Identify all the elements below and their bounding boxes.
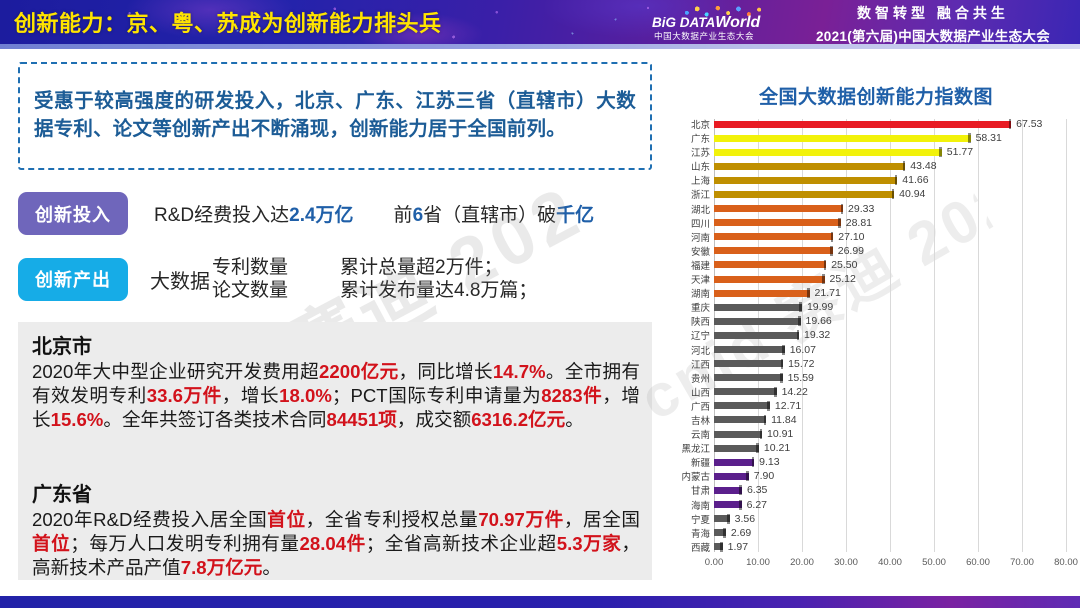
chart-bar-row: 湖北29.33 (714, 204, 1066, 214)
chart-bar (714, 163, 905, 170)
chart-bar (714, 332, 799, 339)
chart-value-label: 67.53 (1016, 118, 1042, 130)
chart-bar (714, 346, 785, 353)
chart-bar-row: 贵州15.59 (714, 373, 1066, 383)
chart-x-tick-label: 30.00 (834, 557, 858, 568)
chart-bar-row: 辽宁19.32 (714, 330, 1066, 340)
chart-value-label: 29.33 (848, 203, 874, 215)
chart-plot: 北京67.53广东58.31江苏51.77山东43.48上海41.66浙江40.… (714, 119, 1066, 552)
investment-mid-2: 省（直辖市）破 (423, 205, 556, 226)
chart-bar-row: 新疆9.13 (714, 457, 1066, 467)
investment-text: R&D经费投入达2.4万亿前6省（直辖市）破千亿 (154, 200, 594, 227)
chart-category-label: 上海 (691, 173, 710, 187)
chart-category-label: 江西 (691, 357, 710, 371)
bigdata-world-logo: BiG DATAWorld 中国大数据产业生态大会 (652, 4, 788, 42)
info-box-guangdong: 广东省 2020年R&D经费投入居全国首位，全省专利授权总量70.97万件，居全… (18, 470, 652, 580)
chart-bar-row: 吉林11.84 (714, 415, 1066, 425)
chart-bar-row: 内蒙古7.90 (714, 471, 1066, 481)
chart-category-label: 青海 (691, 526, 710, 540)
investment-value-1: 2.4万亿 (289, 205, 353, 226)
output-metric-list: 专利数量 论文数量 (212, 256, 288, 302)
logo-world-text: World (715, 14, 760, 31)
chart-bar (714, 135, 971, 142)
chart-bar-row: 上海41.66 (714, 175, 1066, 185)
output-detail: 大数据 专利数量 论文数量 累计总量超2万件； 累计发布量达4.8万篇； (150, 256, 537, 302)
chart-bar (714, 276, 825, 283)
chart-category-label: 海南 (691, 498, 710, 512)
chart-category-label: 湖南 (691, 286, 710, 300)
chart-value-label: 25.50 (831, 259, 857, 271)
chart-value-label: 25.12 (830, 273, 856, 285)
chart-bar-row: 江西15.72 (714, 359, 1066, 369)
chart-bar (714, 191, 894, 198)
chart-bar-row: 西藏1.97 (714, 542, 1066, 552)
chart-value-label: 11.84 (771, 414, 797, 426)
chart-bar-row: 浙江40.94 (714, 189, 1066, 199)
chart-bar (714, 374, 783, 381)
chart-x-tick-label: 40.00 (878, 557, 902, 568)
banner-underline-decoration (0, 44, 1080, 49)
chart-value-label: 58.31 (976, 132, 1002, 144)
chart-value-label: 16.07 (790, 344, 816, 356)
conference-name: 2021(第六届)中国大数据产业生态大会 (798, 25, 1068, 44)
chart-gridline (1066, 119, 1067, 552)
chart-bar (714, 459, 754, 466)
chart-value-label: 10.21 (764, 442, 790, 454)
chart-bar-row: 山西14.22 (714, 387, 1066, 397)
logo-subtitle: 中国大数据产业生态大会 (654, 30, 754, 42)
chart-value-label: 1.97 (728, 541, 748, 553)
chart-bar (714, 416, 766, 423)
chart-category-label: 河北 (691, 343, 710, 357)
chart-value-label: 41.66 (902, 174, 928, 186)
chart-bar (714, 233, 833, 240)
chart-category-label: 山东 (691, 159, 710, 173)
chart-area: cnid 赛迪 2021 北京67.53广东58.31江苏51.77山东43.4… (680, 119, 1072, 574)
chart-value-label: 6.35 (747, 484, 767, 496)
chart-category-label: 广东 (691, 131, 710, 145)
chart-category-label: 河南 (691, 230, 710, 244)
chart-category-label: 宁夏 (691, 512, 710, 526)
chart-category-label: 北京 (691, 117, 710, 131)
chart-category-label: 福建 (691, 258, 710, 272)
chart-bar (714, 177, 897, 184)
output-metric-patents: 专利数量 (212, 256, 288, 279)
chart-category-label: 黑龙江 (681, 441, 710, 455)
chart-bar-rows: 北京67.53广东58.31江苏51.77山东43.48上海41.66浙江40.… (714, 119, 1066, 552)
chart-bar-row: 广东58.31 (714, 133, 1066, 143)
chart-bar-row: 福建25.50 (714, 260, 1066, 270)
investment-prefix: R&D经费投入达 (154, 205, 289, 226)
chart-bar (714, 219, 841, 226)
chart-category-label: 山西 (691, 385, 710, 399)
chart-bar (714, 304, 802, 311)
chart-category-label: 湖北 (691, 202, 710, 216)
chart-title: 全国大数据创新能力指数图 (672, 52, 1080, 109)
chart-bar-row: 四川28.81 (714, 218, 1066, 228)
chart-bar-row: 甘肃6.35 (714, 485, 1066, 495)
chart-category-label: 吉林 (691, 413, 710, 427)
chart-x-tick-label: 20.00 (790, 557, 814, 568)
chart-x-tick-label: 60.00 (966, 557, 990, 568)
chart-bar-row: 宁夏3.56 (714, 514, 1066, 524)
chart-value-label: 7.90 (754, 470, 774, 482)
investment-value-3: 千亿 (556, 205, 594, 226)
chart-value-label: 14.22 (782, 386, 808, 398)
chart-bar (714, 431, 762, 438)
investment-mid-1: 前 (394, 205, 413, 226)
slide: 创新能力：京、粤、苏成为创新能力排头兵 BiG DATAWorld 中国大数据产… (0, 0, 1080, 608)
info-box-guangdong-title: 广东省 (32, 478, 640, 507)
chart-bar (714, 205, 843, 212)
chart-value-label: 19.66 (806, 315, 832, 327)
chart-x-tick-label: 10.00 (746, 557, 770, 568)
chart-value-label: 51.77 (947, 146, 973, 158)
chart-category-label: 贵州 (691, 371, 710, 385)
chart-bar (714, 487, 742, 494)
chart-category-label: 新疆 (691, 455, 710, 469)
chart-x-axis-labels: 0.0010.0020.0030.0040.0050.0060.0070.008… (714, 554, 1066, 574)
chart-value-label: 9.13 (759, 456, 779, 468)
chart-bar (714, 290, 810, 297)
logo-main-text: BiG DATAWorld (652, 15, 788, 31)
chart-value-label: 3.56 (735, 513, 755, 525)
output-bigdata-label: 大数据 (150, 265, 210, 294)
info-box-guangdong-body: 2020年R&D经费投入居全国首位，全省专利授权总量70.97万件，居全国首位；… (32, 508, 640, 581)
chart-value-label: 2.69 (731, 527, 751, 539)
chart-bar-row: 天津25.12 (714, 274, 1066, 284)
chart-category-label: 重庆 (691, 300, 710, 314)
badge-innovation-output: 创新产出 (18, 258, 128, 301)
chart-bar-row: 海南6.27 (714, 500, 1066, 510)
chart-bar (714, 261, 826, 268)
chart-bar-row: 河北16.07 (714, 345, 1066, 355)
chart-bar (714, 402, 770, 409)
chart-category-label: 浙江 (691, 187, 710, 201)
badge-innovation-investment: 创新投入 (18, 192, 128, 235)
chart-bar-row: 河南27.10 (714, 232, 1066, 242)
chart-bar (714, 515, 730, 522)
chart-category-label: 甘肃 (691, 483, 710, 497)
chart-x-tick-label: 50.00 (922, 557, 946, 568)
chart-bar (714, 318, 801, 325)
info-box-beijing-body: 2020年大中型企业研究开发费用超2200亿元，同比增长14.7%。全市拥有有效… (32, 360, 640, 433)
innovation-investment-row: 创新投入 R&D经费投入达2.4万亿前6省（直辖市）破千亿 (18, 192, 594, 235)
chart-value-label: 40.94 (899, 188, 925, 200)
chart-category-label: 安徽 (691, 244, 710, 258)
chart-bar (714, 501, 742, 508)
chart-bar-row: 广西12.71 (714, 401, 1066, 411)
logo-bigdata-text: BiG DATA (652, 15, 715, 30)
chart-bar-row: 江苏51.77 (714, 147, 1066, 157)
chart-value-label: 26.99 (838, 245, 864, 257)
chart-bar (714, 543, 723, 550)
info-box-beijing-title: 北京市 (32, 330, 640, 359)
chart-value-label: 19.32 (804, 329, 830, 341)
output-value-list: 累计总量超2万件； 累计发布量达4.8万篇； (340, 256, 537, 302)
chart-category-label: 辽宁 (691, 328, 710, 342)
chart-x-tick-label: 70.00 (1010, 557, 1034, 568)
chart-bar-row: 湖南21.71 (714, 288, 1066, 298)
summary-callout-text: 受惠于较高强度的研发投入，北京、广东、江苏三省（直辖市）大数据专利、论文等创新产… (34, 88, 636, 143)
chart-bar-row: 重庆19.99 (714, 302, 1066, 312)
chart-value-label: 28.81 (846, 217, 872, 229)
chart-value-label: 19.99 (807, 301, 833, 313)
info-box-beijing: 北京市 2020年大中型企业研究开发费用超2200亿元，同比增长14.7%。全市… (18, 322, 652, 470)
chart-bar-row: 青海2.69 (714, 528, 1066, 538)
output-value-patents: 累计总量超2万件； (340, 256, 537, 279)
chart-category-label: 云南 (691, 427, 710, 441)
chart-category-label: 内蒙古 (681, 469, 710, 483)
chart-bar (714, 121, 1011, 128)
innovation-output-row: 创新产出 大数据 专利数量 论文数量 累计总量超2万件； 累计发布量达4.8万篇… (18, 256, 537, 302)
chart-panel: 全国大数据创新能力指数图 cnid 赛迪 2021 北京67.53广东58.31… (672, 52, 1080, 592)
chart-category-label: 陕西 (691, 314, 710, 328)
output-metric-papers: 论文数量 (212, 279, 288, 302)
chart-value-label: 15.59 (788, 372, 814, 384)
chart-x-tick-label: 80.00 (1054, 557, 1078, 568)
chart-category-label: 西藏 (691, 540, 710, 554)
chart-x-tick-label: 0.00 (705, 557, 724, 568)
chart-bar (714, 360, 783, 367)
investment-value-2: 6 (413, 205, 424, 226)
chart-bar-row: 云南10.91 (714, 429, 1066, 439)
chart-category-label: 江苏 (691, 145, 710, 159)
chart-value-label: 10.91 (767, 428, 793, 440)
chart-bar (714, 388, 777, 395)
chart-value-label: 43.48 (910, 160, 936, 172)
chart-bar-row: 山东43.48 (714, 161, 1066, 171)
chart-bar (714, 445, 759, 452)
chart-category-label: 四川 (691, 216, 710, 230)
chart-value-label: 6.27 (747, 499, 767, 511)
left-content-column: 受惠于较高强度的研发投入，北京、广东、江苏三省（直辖市）大数据专利、论文等创新产… (0, 52, 680, 608)
chart-category-label: 天津 (691, 272, 710, 286)
top-banner: 创新能力：京、粤、苏成为创新能力排头兵 BiG DATAWorld 中国大数据产… (0, 0, 1080, 44)
chart-bar (714, 529, 726, 536)
chart-bar (714, 149, 942, 156)
chart-value-label: 27.10 (838, 231, 864, 243)
footer-bar-decoration (0, 596, 1080, 608)
conference-text: 数智转型 融合共生 2021(第六届)中国大数据产业生态大会 (798, 3, 1068, 44)
chart-bar (714, 473, 749, 480)
page-title: 创新能力：京、粤、苏成为创新能力排头兵 (14, 6, 442, 38)
chart-value-label: 12.71 (775, 400, 801, 412)
chart-bar (714, 247, 833, 254)
chart-category-label: 广西 (691, 399, 710, 413)
chart-bar-row: 安徽26.99 (714, 246, 1066, 256)
chart-value-label: 15.72 (788, 358, 814, 370)
summary-callout-box: 受惠于较高强度的研发投入，北京、广东、江苏三省（直辖市）大数据专利、论文等创新产… (18, 62, 652, 170)
chart-bar-row: 黑龙江10.21 (714, 443, 1066, 453)
chart-bar-row: 陕西19.66 (714, 316, 1066, 326)
chart-value-label: 21.71 (815, 287, 841, 299)
chart-bar-row: 北京67.53 (714, 119, 1066, 129)
conference-slogan: 数智转型 融合共生 (798, 3, 1068, 23)
output-value-papers: 累计发布量达4.8万篇； (340, 279, 537, 302)
